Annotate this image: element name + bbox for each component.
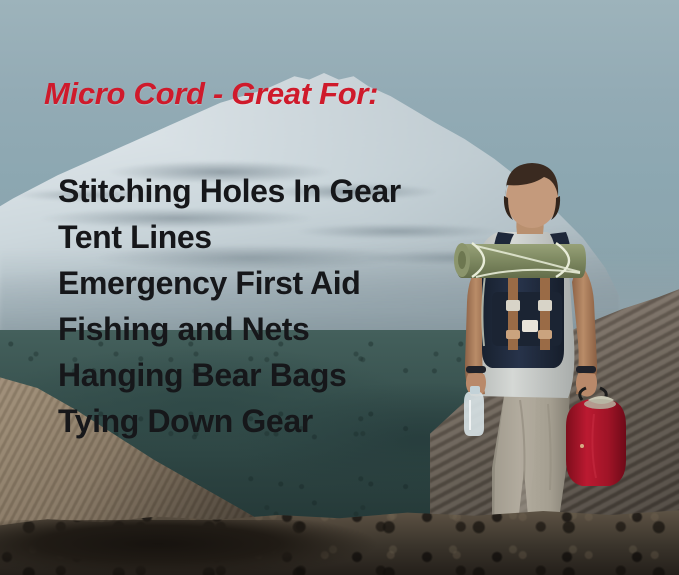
page-title: Micro Cord - Great For: [44,76,378,112]
uses-list: Stitching Holes In Gear Tent Lines Emerg… [58,168,401,444]
sleeping-pad [454,243,586,278]
foreground-dark-rocks [0,520,410,575]
hiker-head [504,163,560,234]
red-stuff-sack [566,388,626,486]
list-item: Emergency First Aid [58,260,401,306]
list-item: Stitching Holes In Gear [58,168,401,214]
list-item: Hanging Bear Bags [58,352,401,398]
list-item: Tying Down Gear [58,398,401,444]
product-image: Micro Cord - Great For: Stitching Holes … [0,0,679,575]
list-item: Fishing and Nets [58,306,401,352]
water-bottle [464,386,484,436]
list-item: Tent Lines [58,214,401,260]
